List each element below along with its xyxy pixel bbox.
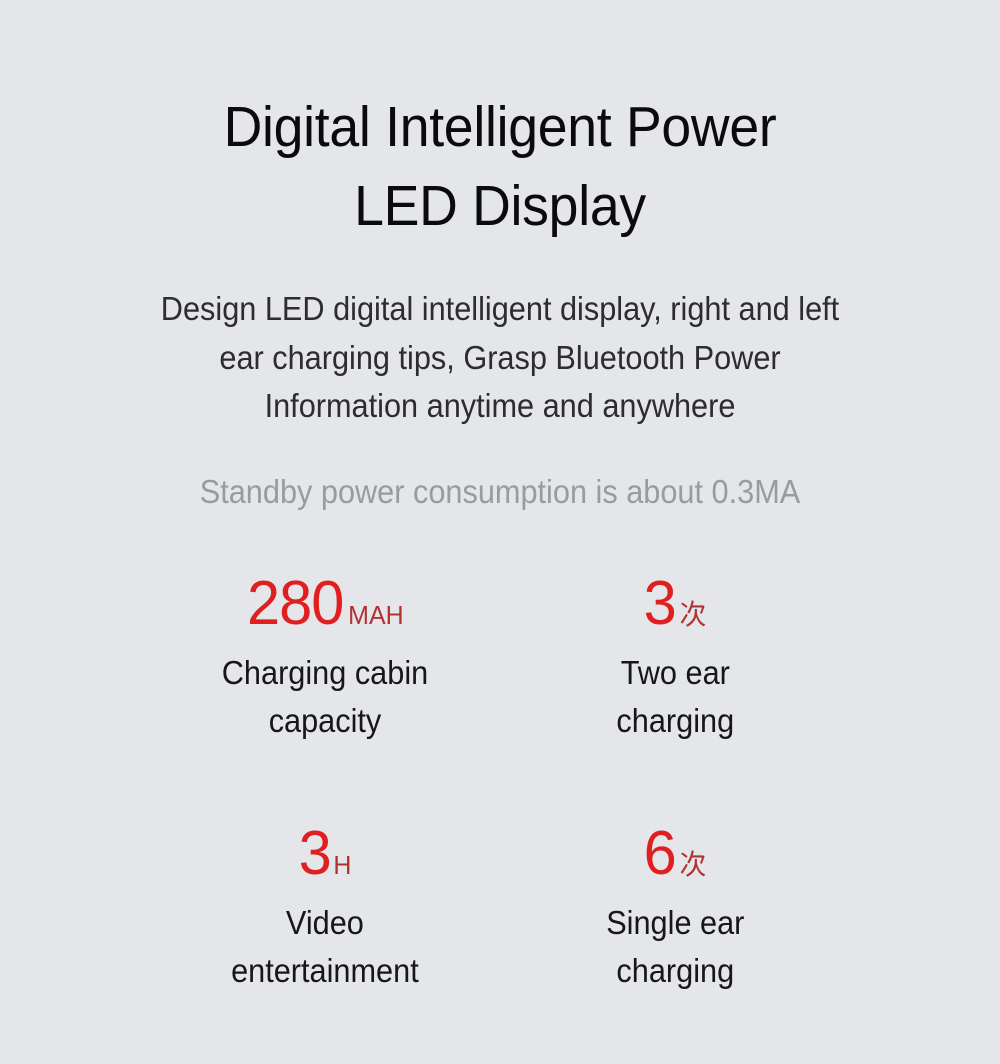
stat-unit: 次: [680, 601, 707, 629]
stat-label: Two ear charging: [616, 649, 734, 745]
standby-power-note: Standby power consumption is about 0.3MA: [63, 469, 937, 515]
stat-label-line-2: entertainment: [231, 947, 419, 995]
stat-single-ear-charging: 6 次 Single ear charging: [500, 823, 850, 995]
stat-value: 3 H: [298, 823, 352, 885]
stat-value: 6 次: [643, 823, 708, 885]
stat-label-line-2: capacity: [222, 697, 428, 745]
stat-label-line-2: charging: [606, 947, 744, 995]
stat-label: Video entertainment: [231, 899, 419, 995]
stat-value: 3 次: [643, 573, 708, 635]
stat-video-entertainment: 3 H Video entertainment: [150, 823, 500, 995]
stat-two-ear-charging: 3 次 Two ear charging: [500, 573, 850, 745]
stat-label-line-1: Video: [231, 899, 419, 947]
spec-stats-grid: 280 MAH Charging cabin capacity 3 次 Two …: [150, 573, 850, 994]
stat-number: 3: [299, 823, 331, 885]
stat-unit: 次: [680, 851, 707, 879]
product-feature-panel: Digital Intelligent Power LED Display De…: [0, 0, 1000, 1064]
page-title-line-1: Digital Intelligent Power: [77, 88, 923, 167]
stat-number: 3: [643, 573, 675, 635]
stat-number: 280: [247, 573, 343, 635]
feature-description: Design LED digital intelligent display, …: [63, 285, 937, 431]
stat-label-line-1: Charging cabin: [222, 649, 428, 697]
page-title: Digital Intelligent Power LED Display: [77, 88, 923, 245]
feature-description-line-3: Information anytime and anywhere: [63, 382, 937, 431]
stat-unit: H: [334, 852, 352, 878]
stat-unit: MAH: [348, 602, 403, 628]
stat-charging-cabin-capacity: 280 MAH Charging cabin capacity: [150, 573, 500, 745]
feature-description-line-2: ear charging tips, Grasp Bluetooth Power: [63, 334, 937, 383]
stat-value: 280 MAH: [245, 573, 405, 635]
page-title-line-2: LED Display: [77, 167, 923, 246]
stat-label-line-1: Single ear: [606, 899, 744, 947]
stat-label: Single ear charging: [606, 899, 744, 995]
stat-label: Charging cabin capacity: [222, 649, 428, 745]
stat-label-line-1: Two ear: [616, 649, 734, 697]
stat-label-line-2: charging: [616, 697, 734, 745]
feature-description-line-1: Design LED digital intelligent display, …: [63, 285, 937, 334]
stat-number: 6: [643, 823, 675, 885]
